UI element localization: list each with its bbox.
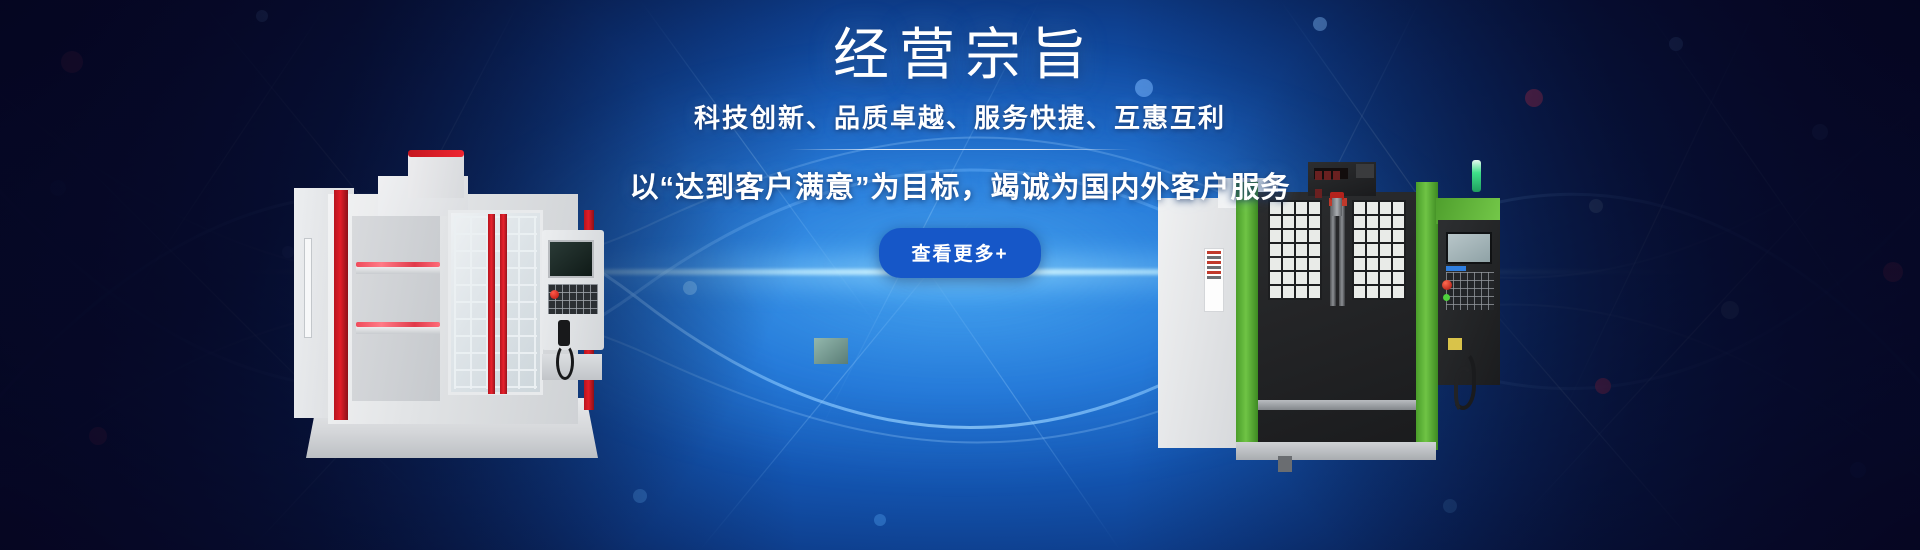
view-more-button[interactable]: 查看更多+	[879, 228, 1040, 278]
text-divider	[789, 149, 1131, 150]
banner-subtitle: 科技创新、品质卓越、服务快捷、互惠互利	[0, 98, 1920, 135]
promo-banner: 经营宗旨 科技创新、品质卓越、服务快捷、互惠互利 以“达到客户满意”为目标，竭诚…	[0, 0, 1920, 550]
banner-text-block: 经营宗旨 科技创新、品质卓越、服务快捷、互惠互利 以“达到客户满意”为目标，竭诚…	[0, 22, 1920, 278]
banner-tagline: 以“达到客户满意”为目标，竭诚为国内外客户服务	[0, 164, 1920, 206]
page-title: 经营宗旨	[0, 22, 1920, 88]
